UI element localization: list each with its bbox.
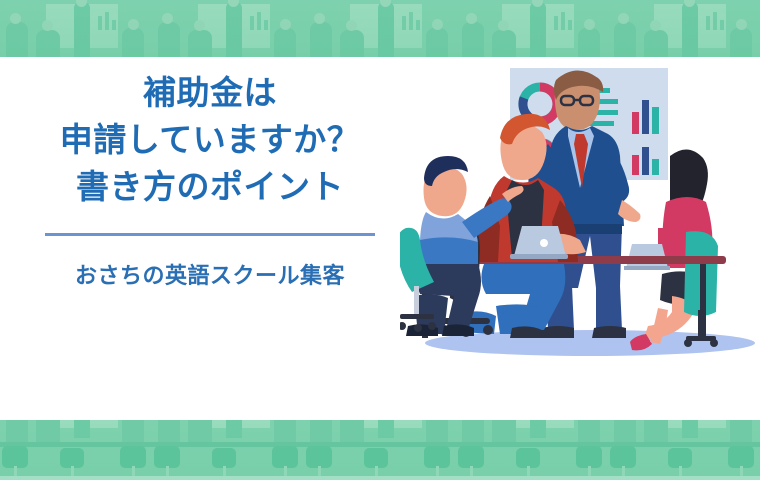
page-title: 補助金は 申請していますか？ 書き方のポイント <box>0 70 420 211</box>
headline-line-1: 補助金は <box>0 70 420 117</box>
bottom-decorative-band <box>0 420 760 480</box>
top-decorative-band <box>0 0 760 57</box>
divider <box>45 233 375 236</box>
meeting-illustration <box>400 60 760 400</box>
top-band-green-tint <box>0 0 760 57</box>
banner-canvas: 補助金は 申請していますか？ 書き方のポイント おさちの英語スクール集客 <box>0 0 760 480</box>
text-block: 補助金は 申請していますか？ 書き方のポイント おさちの英語スクール集客 <box>0 70 420 290</box>
bottom-band-green-tint <box>0 420 760 480</box>
subtitle: おさちの英語スクール集客 <box>0 258 420 290</box>
headline-line-2: 申請していますか？ <box>0 117 420 164</box>
headline-line-3: 書き方のポイント <box>0 164 420 211</box>
